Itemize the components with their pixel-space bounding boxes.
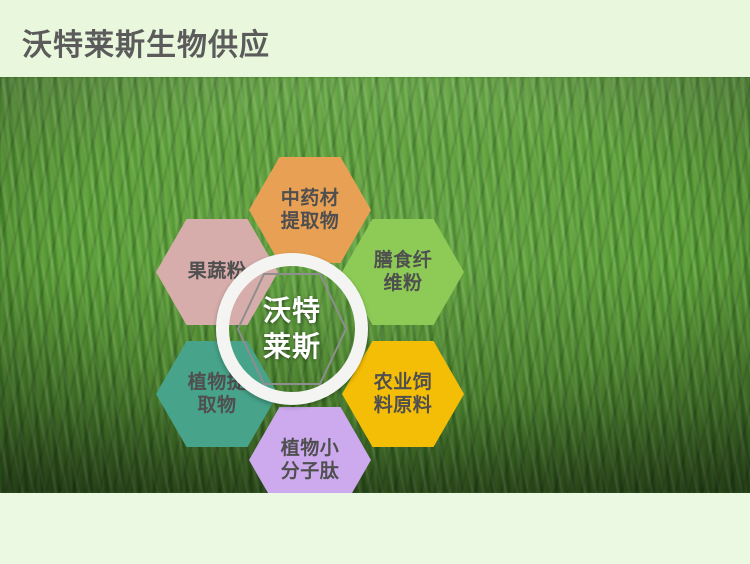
footer-band [0,493,750,564]
slide-root: 沃特莱斯生物供应 中药材 提取物 果蔬粉 膳食纤 维粉 植物提 取物 农业饲 料… [0,0,750,564]
hexagon-cluster: 中药材 提取物 果蔬粉 膳食纤 维粉 植物提 取物 农业饲 料原料 植物小 分子… [140,157,480,493]
hex-label: 膳食纤 维粉 [366,249,441,295]
header-band: 沃特莱斯生物供应 [0,0,750,77]
page-title: 沃特莱斯生物供应 [22,20,270,64]
hex-label: 中药材 提取物 [273,187,348,233]
rice-field-photo: 中药材 提取物 果蔬粉 膳食纤 维粉 植物提 取物 农业饲 料原料 植物小 分子… [0,77,750,493]
hex-plant-small-molecule-peptide[interactable]: 植物小 分子肽 [249,407,371,493]
hex-chinese-medicine-extract[interactable]: 中药材 提取物 [249,157,371,263]
hex-label: 农业饲 料原料 [366,371,441,417]
hex-label: 植物小 分子肽 [273,437,348,483]
center-brand-label: 沃特 莱斯 [226,274,358,384]
